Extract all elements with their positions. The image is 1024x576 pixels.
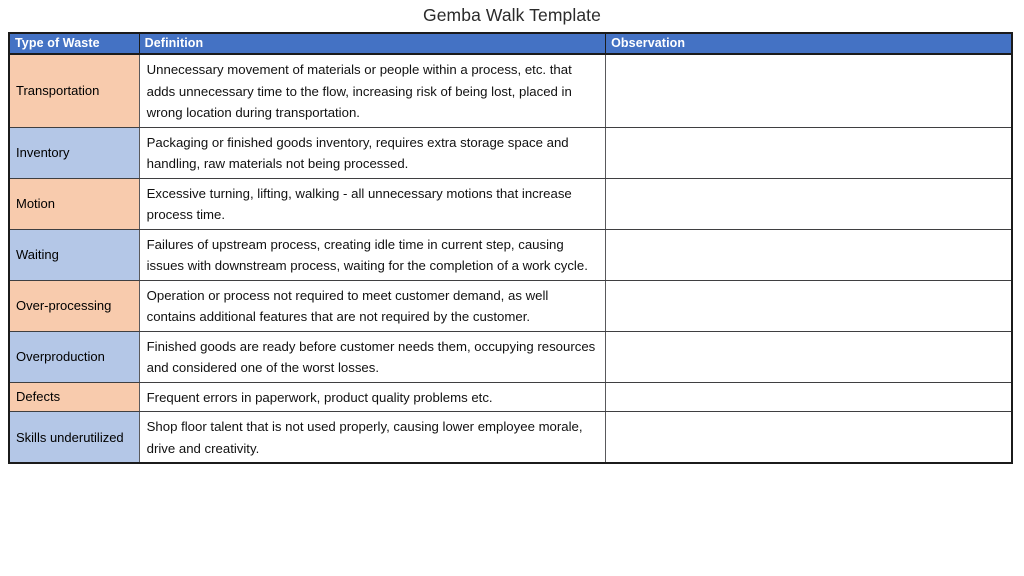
waste-definition-cell: Unnecessary movement of materials or peo… <box>139 54 605 127</box>
table-row: TransportationUnnecessary movement of ma… <box>10 54 1011 127</box>
observation-input-cell[interactable] <box>606 331 1011 382</box>
waste-table: Type of Waste Definition Observation Tra… <box>10 34 1011 462</box>
waste-definition-cell: Operation or process not required to mee… <box>139 280 605 331</box>
waste-type-cell: Inventory <box>10 127 139 178</box>
waste-type-cell: Transportation <box>10 54 139 127</box>
observation-input-cell[interactable] <box>606 229 1011 280</box>
column-header-type-of-waste: Type of Waste <box>10 34 139 54</box>
observation-input-cell[interactable] <box>606 412 1011 463</box>
table-row: Skills underutilizedShop floor talent th… <box>10 412 1011 463</box>
observation-input-cell[interactable] <box>606 54 1011 127</box>
waste-definition-cell: Frequent errors in paperwork, product qu… <box>139 382 605 412</box>
waste-type-cell: Motion <box>10 178 139 229</box>
waste-type-cell: Defects <box>10 382 139 412</box>
waste-definition-cell: Finished goods are ready before customer… <box>139 331 605 382</box>
waste-table-container: Type of Waste Definition Observation Tra… <box>8 32 1013 464</box>
waste-definition-cell: Packaging or finished goods inventory, r… <box>139 127 605 178</box>
table-header: Type of Waste Definition Observation <box>10 34 1011 54</box>
table-row: DefectsFrequent errors in paperwork, pro… <box>10 382 1011 412</box>
gemba-walk-template-page: Gemba Walk Template Type of Waste Defini… <box>0 0 1024 576</box>
table-header-row: Type of Waste Definition Observation <box>10 34 1011 54</box>
observation-input-cell[interactable] <box>606 382 1011 412</box>
waste-definition-cell: Shop floor talent that is not used prope… <box>139 412 605 463</box>
column-header-observation: Observation <box>606 34 1011 54</box>
observation-input-cell[interactable] <box>606 280 1011 331</box>
observation-input-cell[interactable] <box>606 127 1011 178</box>
waste-type-cell: Over-processing <box>10 280 139 331</box>
column-header-definition: Definition <box>139 34 605 54</box>
table-row: WaitingFailures of upstream process, cre… <box>10 229 1011 280</box>
table-row: Over-processingOperation or process not … <box>10 280 1011 331</box>
waste-definition-cell: Excessive turning, lifting, walking - al… <box>139 178 605 229</box>
page-title: Gemba Walk Template <box>0 2 1024 28</box>
waste-type-cell: Skills underutilized <box>10 412 139 463</box>
waste-definition-cell: Failures of upstream process, creating i… <box>139 229 605 280</box>
table-row: InventoryPackaging or finished goods inv… <box>10 127 1011 178</box>
waste-type-cell: Waiting <box>10 229 139 280</box>
observation-input-cell[interactable] <box>606 178 1011 229</box>
table-row: OverproductionFinished goods are ready b… <box>10 331 1011 382</box>
waste-type-cell: Overproduction <box>10 331 139 382</box>
table-row: MotionExcessive turning, lifting, walkin… <box>10 178 1011 229</box>
table-body: TransportationUnnecessary movement of ma… <box>10 54 1011 462</box>
